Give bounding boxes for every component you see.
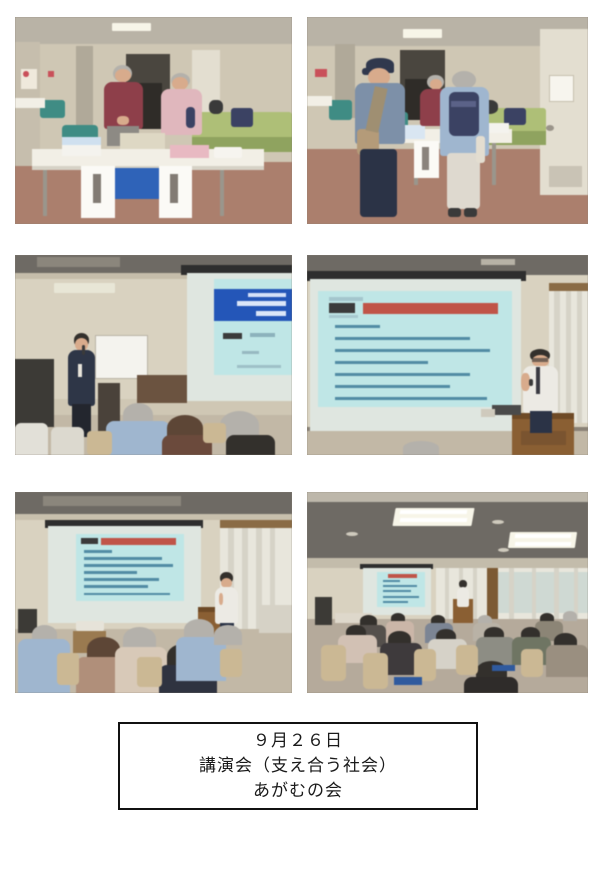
photo-attendees-checking-in bbox=[307, 17, 588, 224]
speaker bbox=[68, 333, 96, 437]
photo-reception-staff bbox=[15, 17, 292, 224]
photo-full-audience bbox=[307, 492, 588, 693]
caption-box: ９月２６日 講演会（支え合う社会） あがむの会 bbox=[118, 722, 478, 810]
attendee-with-cap bbox=[355, 58, 406, 219]
photo-speaker-opening bbox=[15, 255, 292, 455]
document-page: ９月２６日 講演会（支え合う社会） あがむの会 bbox=[0, 0, 600, 887]
photo-full-audience-scene bbox=[307, 492, 588, 693]
photo-lecturer-at-podium bbox=[307, 255, 588, 455]
photo-grid bbox=[15, 17, 588, 693]
speaker bbox=[456, 580, 470, 608]
photo-lecturer-at-podium-scene bbox=[307, 255, 588, 455]
photo-room-from-rear-scene bbox=[15, 492, 292, 693]
lecturer bbox=[521, 349, 560, 433]
photo-reception-staff-scene bbox=[15, 17, 292, 224]
caption-line-title: 講演会（支え合う社会） bbox=[199, 754, 397, 779]
caption-line-date: ９月２６日 bbox=[253, 729, 343, 754]
slide-title-bar bbox=[363, 303, 498, 314]
slide-psw-badge bbox=[329, 303, 354, 313]
attendee-with-backpack bbox=[439, 71, 490, 220]
photo-speaker-opening-scene bbox=[15, 255, 292, 455]
photo-room-from-rear bbox=[15, 492, 292, 693]
caption-line-organizer: あがむの会 bbox=[253, 779, 343, 804]
photo-attendees-checking-in-scene bbox=[307, 17, 588, 224]
